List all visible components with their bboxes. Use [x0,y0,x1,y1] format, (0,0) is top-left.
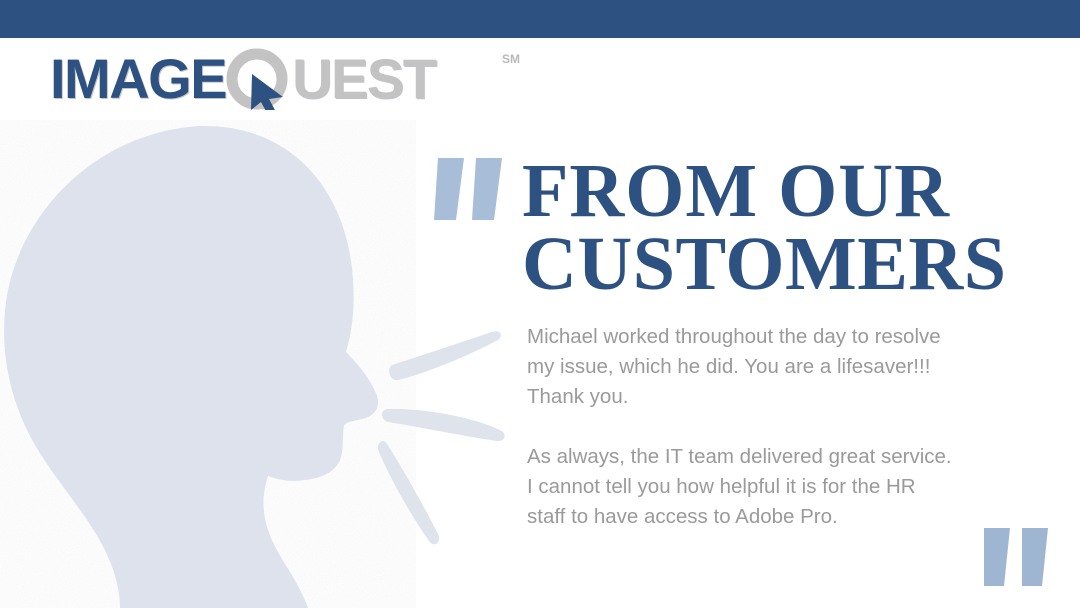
testimonial-list: Michael worked throughout the day to res… [527,322,1057,532]
imagequest-logo[interactable]: IMAGEUEST SM [50,48,520,110]
logo-q-with-cursor [226,48,292,110]
page-title: FROM OUR CUSTOMERS [522,155,1070,301]
top-accent-bar [0,0,1080,38]
page-title-line-1: FROM OUR [522,155,1070,228]
testimonial-slide: IMAGEUEST SM FROM OUR CUSTOMERS Michael … [0,0,1080,608]
head-shape [4,126,378,608]
testimonial-quote-1: Michael worked throughout the day to res… [527,322,1057,412]
testimonial-quote-2: As always, the IT team delivered great s… [527,442,1057,532]
page-title-line-2: CUSTOMERS [522,228,1070,301]
service-mark-icon: SM [502,52,520,66]
logo-wordmark: IMAGEUEST [50,48,520,110]
closing-quote-icon [984,528,1054,586]
logo-word-uest: UEST [292,48,435,110]
opening-quote-icon [434,158,508,220]
logo-word-image: IMAGE [50,48,226,110]
speech-lines [378,331,505,544]
